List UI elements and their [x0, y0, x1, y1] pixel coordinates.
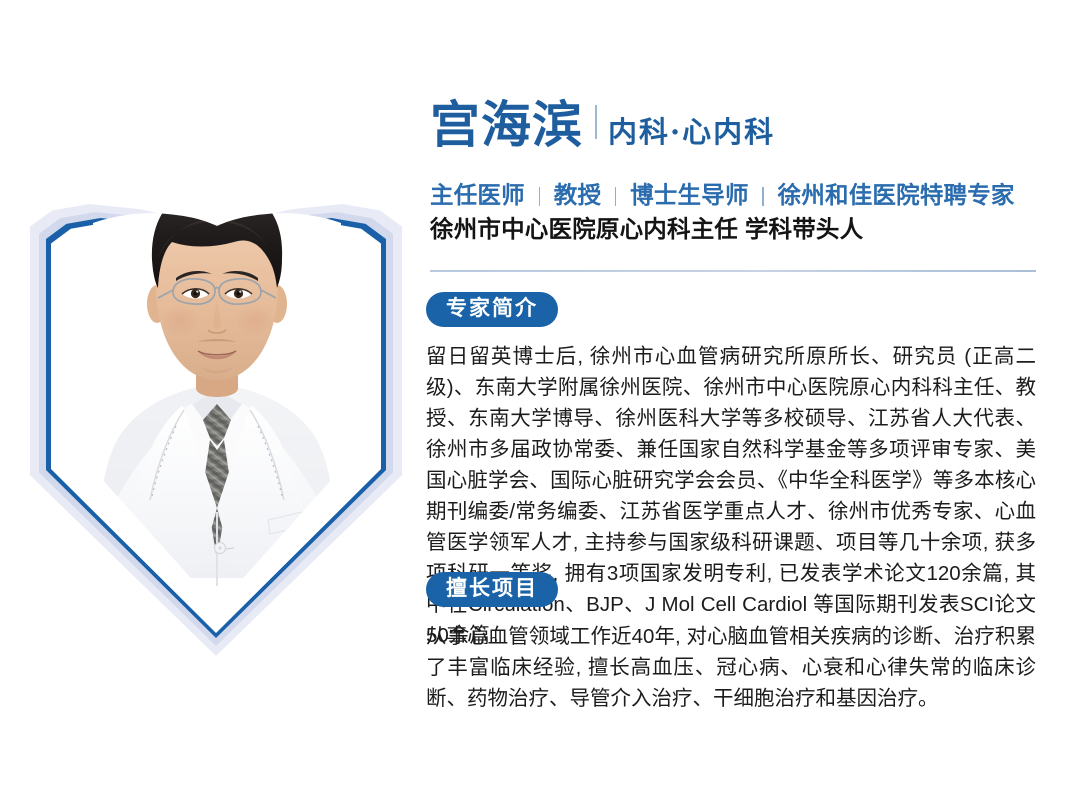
- info-panel: 宫海滨 内科·心内科 主任医师 教授 博士生导师 徐州和佳医院特聘专家 徐州市中…: [426, 0, 1066, 786]
- doctor-position-line: 徐州市中心医院原心内科主任 学科带头人: [430, 210, 863, 244]
- section-specialty: 擅长项目 从事心血管领域工作近40年, 对心脑血管相关疾病的诊断、治疗积累了丰富…: [426, 572, 1046, 714]
- doctor-portrait-image: [72, 108, 362, 668]
- credential-item-3: 徐州和佳医院特聘专家: [778, 182, 1015, 208]
- section-body-specialty: 从事心血管领域工作近40年, 对心脑血管相关疾病的诊断、治疗积累了丰富临床经验,…: [426, 621, 1036, 714]
- doctor-name-row: 宫海滨 内科·心内科: [430, 100, 775, 150]
- credential-separator-0: [539, 187, 541, 206]
- credential-item-1: 教授: [554, 182, 601, 208]
- doctor-profile-card: 宫海滨 内科·心内科 主任医师 教授 博士生导师 徐州和佳医院特聘专家 徐州市中…: [0, 0, 1080, 786]
- credential-separator-2: [762, 187, 764, 206]
- header-divider: [430, 270, 1036, 272]
- doctor-department: 内科·心内科: [608, 118, 775, 147]
- portrait-panel: [0, 0, 420, 786]
- shield-badge-frame: [30, 108, 402, 656]
- doctor-name: 宫海滨: [430, 100, 583, 150]
- credential-item-2: 博士生导师: [630, 182, 749, 208]
- section-badge-specialty: 擅长项目: [426, 572, 558, 607]
- section-badge-profile: 专家简介: [426, 292, 558, 327]
- credential-item-0: 主任医师: [430, 182, 525, 208]
- credential-separator-1: [615, 187, 617, 206]
- name-separator-bar: [595, 105, 597, 139]
- doctor-credentials: 主任医师 教授 博士生导师 徐州和佳医院特聘专家: [430, 176, 1015, 210]
